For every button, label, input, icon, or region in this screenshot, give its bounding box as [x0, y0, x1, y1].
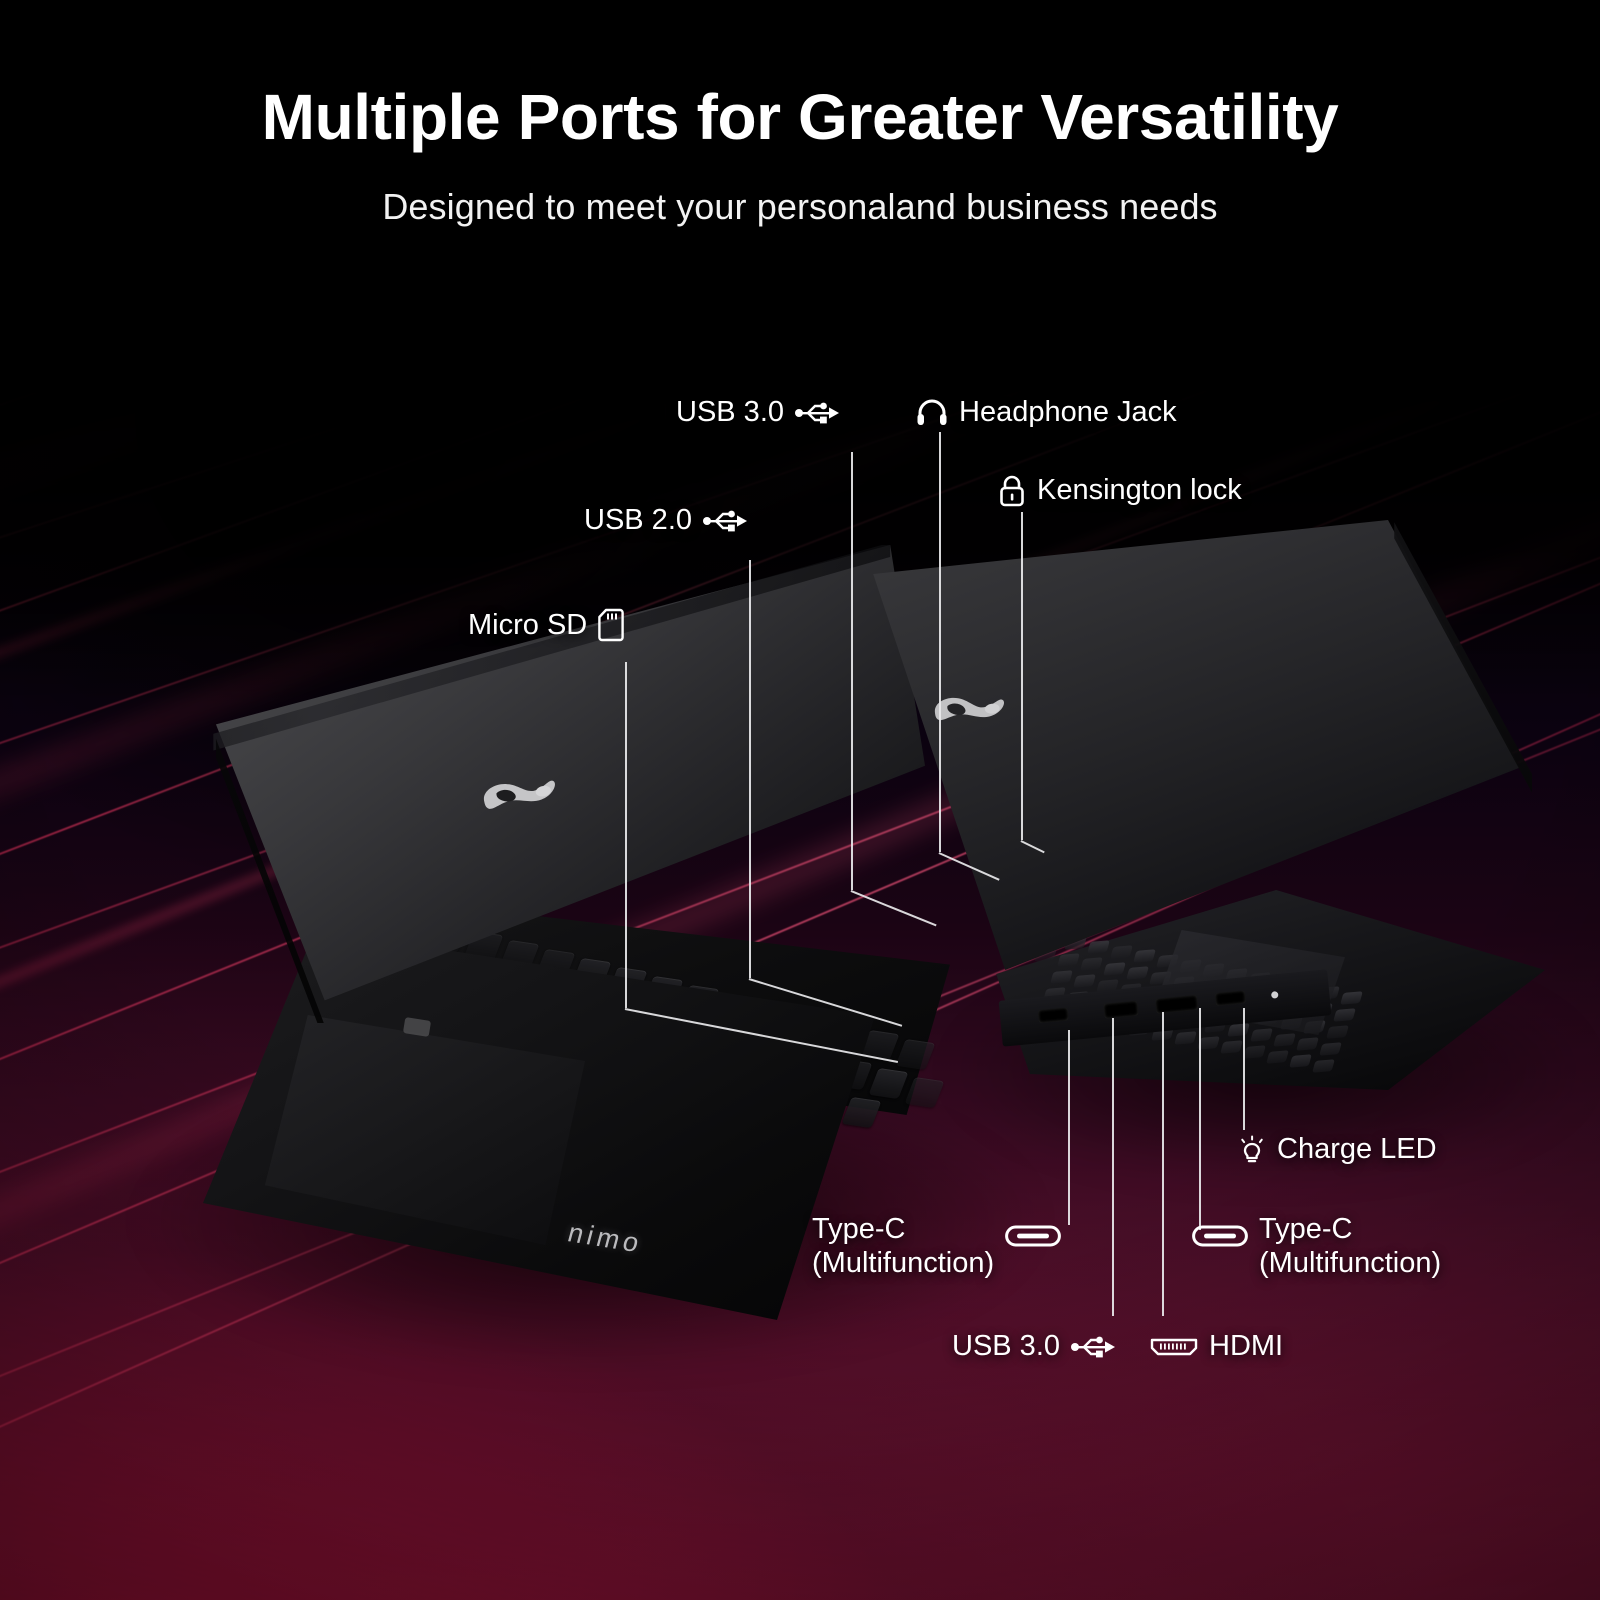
- callout-usb30-top[interactable]: USB 3.0: [676, 396, 841, 429]
- callout-usb30-bottom[interactable]: USB 3.0: [952, 1330, 1117, 1363]
- type-c-icon: [1005, 1223, 1061, 1249]
- callout-charge-led[interactable]: Charge LED: [1238, 1133, 1437, 1166]
- product-imagery: nimo: [0, 0, 1600, 1600]
- port-usb-a: [1103, 1001, 1138, 1019]
- callout-headphone[interactable]: Headphone Jack: [916, 396, 1177, 429]
- port-hdmi: [1155, 995, 1198, 1014]
- callout-typec-left[interactable]: Type-C (Multifunction): [812, 1213, 1061, 1280]
- callout-label-line2: (Multifunction): [812, 1247, 994, 1281]
- port-type-c-left: [1038, 1007, 1069, 1023]
- product-feature-graphic: Multiple Ports for Greater Versatility D…: [0, 0, 1600, 1600]
- sd-card-icon: [598, 608, 624, 642]
- callout-label: USB 2.0: [584, 504, 692, 537]
- callout-label-line1: Type-C: [812, 1213, 994, 1247]
- callout-label: Charge LED: [1277, 1133, 1437, 1166]
- callout-label: USB 3.0: [676, 396, 784, 429]
- type-c-icon: [1192, 1223, 1248, 1249]
- callout-microsd[interactable]: Micro SD: [468, 608, 624, 642]
- nimo-swirl-logo-icon: [926, 680, 1012, 734]
- charge-led-indicator: [1271, 991, 1279, 999]
- callout-usb20[interactable]: USB 2.0: [584, 504, 749, 537]
- callout-label: HDMI: [1209, 1330, 1283, 1363]
- usb-icon: [1071, 1335, 1117, 1359]
- callout-label-stack: Type-C (Multifunction): [812, 1213, 994, 1280]
- usb-icon: [703, 509, 749, 533]
- header: Multiple Ports for Greater Versatility D…: [0, 0, 1600, 228]
- callout-label: Micro SD: [468, 609, 587, 642]
- usb-icon: [795, 401, 841, 425]
- callout-label-stack: Type-C (Multifunction): [1259, 1213, 1441, 1280]
- callout-label: Headphone Jack: [959, 396, 1177, 429]
- lock-icon: [998, 475, 1026, 507]
- lightbulb-icon: [1238, 1135, 1266, 1165]
- callout-kensington[interactable]: Kensington lock: [998, 474, 1242, 507]
- page-title: Multiple Ports for Greater Versatility: [0, 84, 1600, 152]
- callout-label-line1: Type-C: [1259, 1213, 1441, 1247]
- callout-label: Kensington lock: [1037, 474, 1242, 507]
- callout-label: USB 3.0: [952, 1330, 1060, 1363]
- hdmi-icon: [1150, 1336, 1198, 1358]
- callout-label-line2: (Multifunction): [1259, 1247, 1441, 1281]
- callout-typec-right[interactable]: Type-C (Multifunction): [1192, 1213, 1441, 1280]
- headphone-icon: [916, 399, 948, 427]
- port-type-c-right: [1215, 990, 1246, 1006]
- page-subtitle: Designed to meet your personaland busine…: [0, 186, 1600, 228]
- callout-hdmi[interactable]: HDMI: [1150, 1330, 1283, 1363]
